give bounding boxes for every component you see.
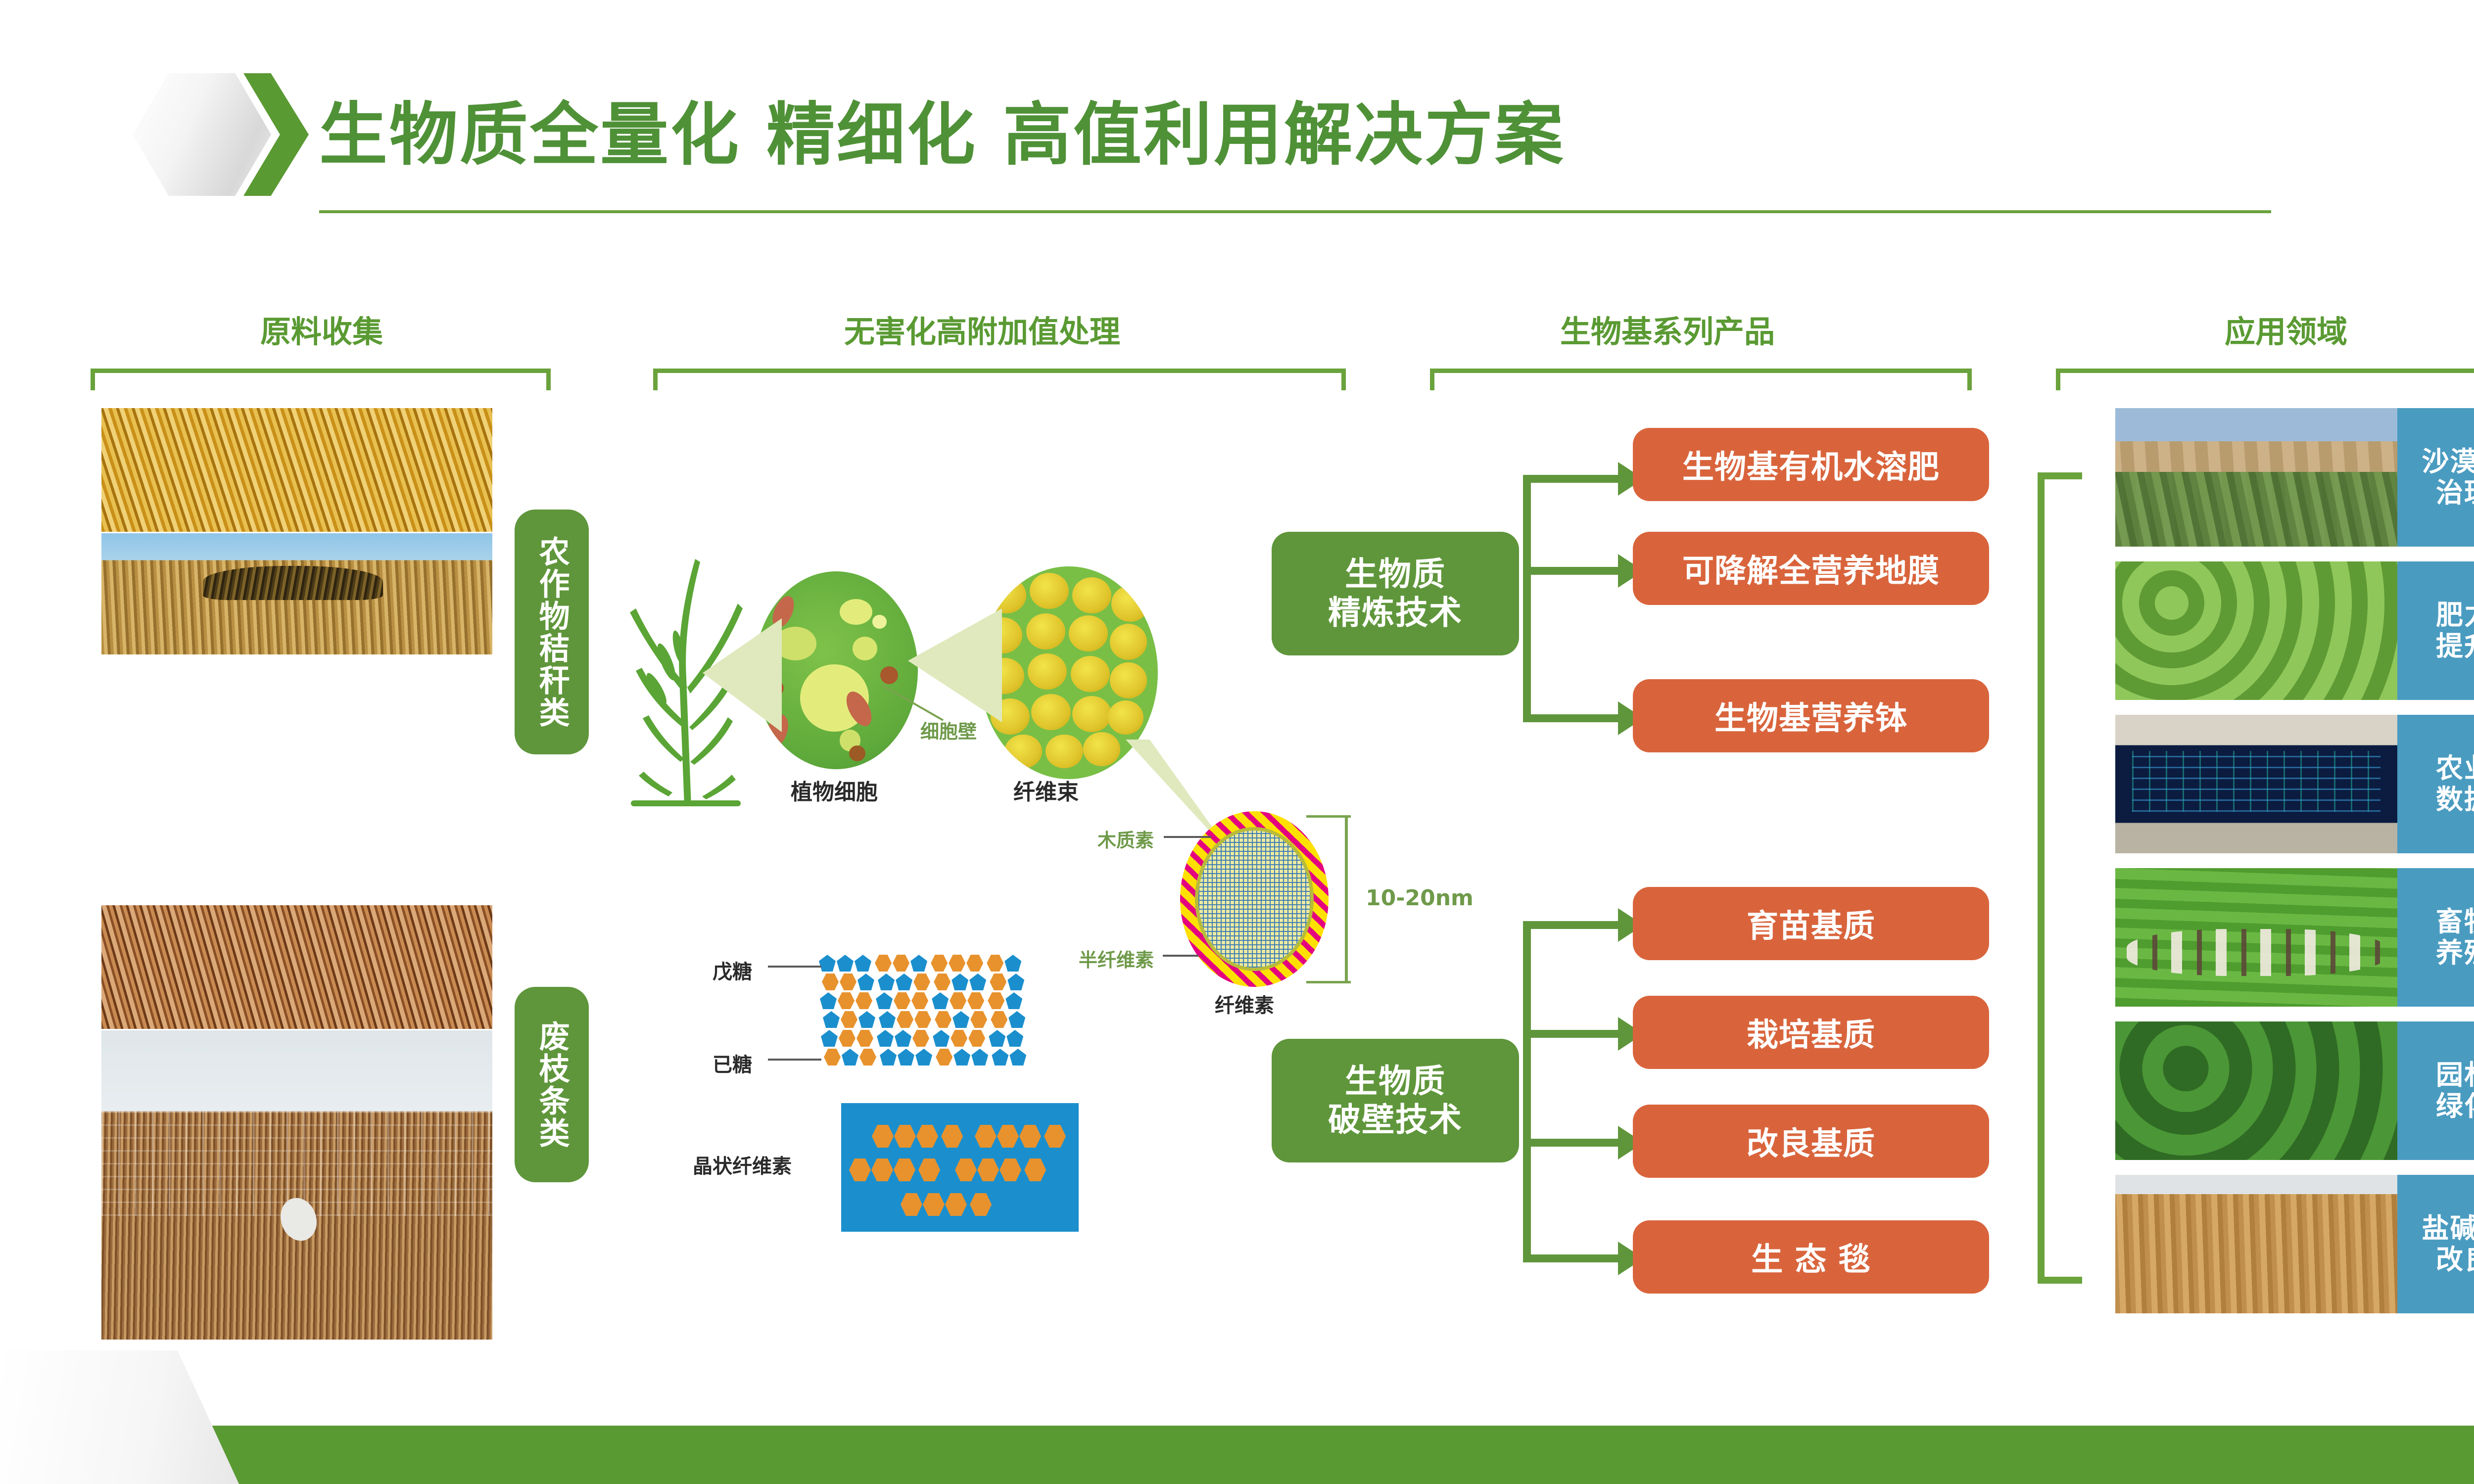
scale-dimension-line bbox=[1345, 815, 1348, 983]
application-image-data bbox=[2115, 715, 2397, 853]
column-header-applications: 应用领域 bbox=[2103, 307, 2469, 351]
product-pill-degradable-mulch-film[interactable]: 可降解全营养地膜 bbox=[1633, 532, 1989, 605]
application-label-landscaping-line2: 绿化 bbox=[2436, 1091, 2474, 1122]
bracket-applications bbox=[2056, 369, 2474, 390]
connector-trunk-breaking bbox=[1523, 921, 1531, 1262]
connector-branch-breaking-2 bbox=[1523, 1030, 1622, 1038]
connector-branch-breaking-1 bbox=[1523, 921, 1622, 929]
sugar-chain-diagram bbox=[819, 955, 1111, 1073]
infographic-canvas: 生物质全量化 精细化 高值利用解决方案 原料收集 无害化高附加值处理 生物基系列… bbox=[0, 0, 2474, 1484]
application-image-landscaping bbox=[2115, 1021, 2397, 1160]
application-label-livestock-line1: 畜牧 bbox=[2436, 906, 2474, 937]
application-label-data-line2: 数据 bbox=[2436, 784, 2474, 815]
connector-branch-breaking-3 bbox=[1523, 1139, 1622, 1147]
bracket-raw-material bbox=[91, 369, 551, 390]
technology-breaking-line1: 生物质 bbox=[1345, 1062, 1446, 1101]
scale-tick-bottom bbox=[1306, 981, 1351, 983]
photo-straw-bale-field bbox=[101, 533, 492, 654]
application-row-data[interactable]: 农业 数据 bbox=[2115, 715, 2474, 853]
leader-line-hemicellulose bbox=[1163, 955, 1198, 957]
page-title: 生物质全量化 精细化 高值利用解决方案 bbox=[319, 88, 1853, 182]
application-image-saline bbox=[2115, 1175, 2397, 1313]
raw-material-label-crop-straw: 农作物秸秆类 bbox=[515, 510, 589, 754]
technology-pill-refining[interactable]: 生物质 精炼技术 bbox=[1272, 532, 1519, 655]
application-label-landscaping: 园林 绿化 bbox=[2397, 1021, 2474, 1160]
label-cellulose: 纤维素 bbox=[1215, 989, 1274, 1018]
application-label-livestock: 畜牧 养殖 bbox=[2397, 868, 2474, 1007]
application-label-fertility-line2: 提升 bbox=[2436, 631, 2474, 662]
application-image-fertility bbox=[2115, 561, 2397, 700]
connector-trunk-refining bbox=[1523, 475, 1531, 722]
label-pentose: 戊糖 bbox=[713, 956, 752, 984]
leader-line-pentose bbox=[768, 966, 821, 968]
application-label-landscaping-line1: 园林 bbox=[2436, 1060, 2474, 1091]
hexagon-decoration bbox=[133, 73, 271, 196]
application-row-saline[interactable]: 盐碱地 改良 bbox=[2115, 1175, 2474, 1313]
application-label-saline: 盐碱地 改良 bbox=[2397, 1175, 2474, 1313]
technology-breaking-line2: 破壁技术 bbox=[1328, 1101, 1463, 1139]
connector-branch-refining-3 bbox=[1523, 714, 1622, 722]
application-label-fertility-line1: 肥力 bbox=[2436, 600, 2474, 631]
application-label-desertification-line1: 沙漠化 bbox=[2422, 446, 2474, 477]
application-image-livestock bbox=[2115, 868, 2397, 1007]
footer-bar bbox=[0, 1426, 2474, 1484]
raw-material-label-waste-branches: 废枝条类 bbox=[515, 987, 589, 1182]
label-fiber-bundle: 纤维束 bbox=[1013, 774, 1079, 806]
application-label-fertility: 肥力 提升 bbox=[2397, 561, 2474, 700]
photo-pruned-branches bbox=[101, 905, 492, 1029]
product-pill-improvement-substrate[interactable]: 改良基质 bbox=[1633, 1105, 1989, 1178]
product-pill-seedling-substrate[interactable]: 育苗基质 bbox=[1633, 887, 1989, 960]
fiber-bundle-illustration bbox=[980, 566, 1158, 779]
technology-refining-line2: 精炼技术 bbox=[1328, 594, 1463, 632]
label-crystalline-cellulose: 晶状纤维素 bbox=[693, 1150, 792, 1179]
application-image-desertification bbox=[2115, 408, 2397, 547]
technology-refining-line1: 生物质 bbox=[1345, 555, 1446, 594]
application-label-livestock-line2: 养殖 bbox=[2436, 937, 2474, 969]
label-lignin: 木质素 bbox=[1097, 825, 1154, 852]
application-row-fertility[interactable]: 肥力 提升 bbox=[2115, 561, 2474, 700]
column-header-processing: 无害化高附加值处理 bbox=[722, 307, 1242, 351]
application-label-data-line1: 农业 bbox=[2436, 753, 2474, 784]
application-row-landscaping[interactable]: 园林 绿化 bbox=[2115, 1021, 2474, 1160]
bracket-products-to-applications bbox=[2038, 472, 2082, 1284]
application-label-saline-line1: 盐碱地 bbox=[2422, 1213, 2474, 1244]
title-underline-divider bbox=[319, 210, 2271, 213]
connector-branch-breaking-4 bbox=[1523, 1254, 1622, 1262]
column-header-products: 生物基系列产品 bbox=[1455, 307, 1880, 351]
application-label-saline-line2: 改良 bbox=[2436, 1244, 2474, 1275]
crystalline-cellulose-diagram bbox=[841, 1103, 1079, 1232]
application-label-data: 农业 数据 bbox=[2397, 715, 2474, 853]
application-label-desertification-line2: 治理 bbox=[2436, 477, 2474, 509]
product-pill-ecological-blanket[interactable]: 生 态 毯 bbox=[1633, 1220, 1989, 1294]
bracket-processing bbox=[653, 369, 1346, 390]
connector-branch-refining-1 bbox=[1523, 475, 1622, 483]
connector-branch-refining-2 bbox=[1523, 567, 1622, 575]
leader-line-hexose bbox=[768, 1059, 821, 1061]
bracket-products bbox=[1430, 369, 1972, 390]
leader-line-cell-wall bbox=[881, 683, 950, 727]
label-hexose: 已糖 bbox=[713, 1049, 752, 1077]
application-row-desertification[interactable]: 沙漠化 治理 bbox=[2115, 408, 2474, 547]
photo-corn-straw-field bbox=[101, 408, 492, 532]
scale-tick-top bbox=[1306, 815, 1351, 818]
technology-pill-cell-wall-breaking[interactable]: 生物质 破壁技术 bbox=[1272, 1039, 1519, 1162]
leader-line-lignin bbox=[1164, 836, 1211, 838]
product-pill-cultivation-substrate[interactable]: 栽培基质 bbox=[1633, 996, 1989, 1069]
application-label-desertification: 沙漠化 治理 bbox=[2397, 408, 2474, 547]
product-pill-water-soluble-fertilizer[interactable]: 生物基有机水溶肥 bbox=[1633, 428, 1989, 501]
application-row-livestock[interactable]: 畜牧 养殖 bbox=[2115, 868, 2474, 1007]
label-scale-10-20nm: 10-20nm bbox=[1366, 885, 1474, 911]
product-pill-nutrition-pot[interactable]: 生物基营养钵 bbox=[1633, 679, 1989, 752]
photo-orchard-branch-collection bbox=[101, 1030, 492, 1340]
label-plant-cell: 植物细胞 bbox=[791, 774, 878, 806]
column-header-raw-material: 原料收集 bbox=[163, 307, 480, 351]
